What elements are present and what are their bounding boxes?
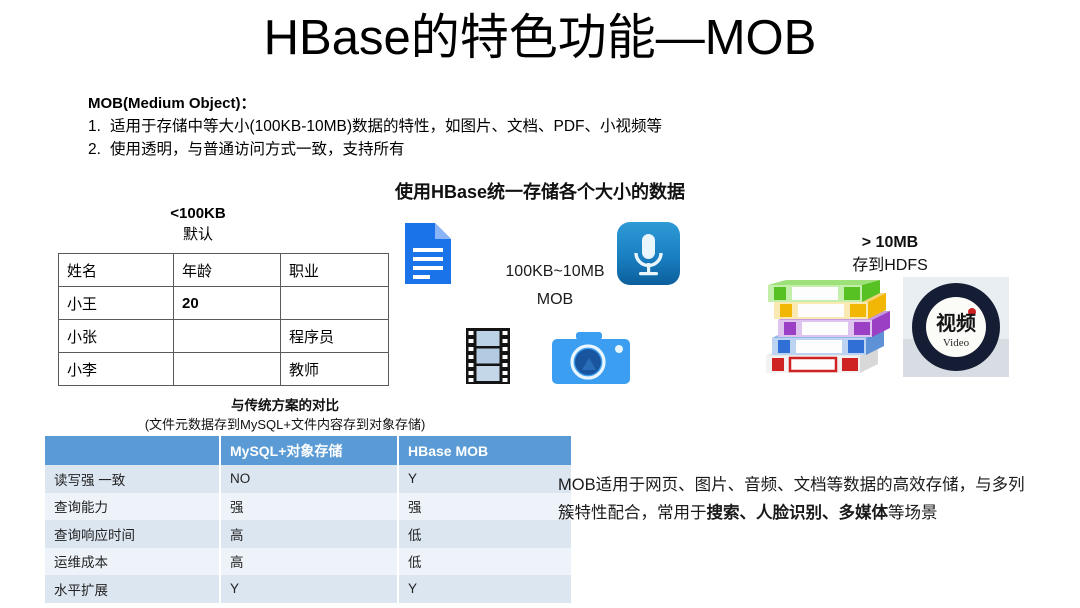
table-cell [174, 353, 281, 386]
table-header-cell [45, 436, 220, 465]
table-row: 小王 20 [59, 287, 389, 320]
comparison-caption: 与传统方案的对比 (文件元数据存到MySQL+文件内容存到对象存储) [45, 396, 525, 434]
table-cell: 运维成本 [45, 548, 220, 576]
table-cell: Y [398, 465, 571, 493]
large-data-size: > 10MB [862, 234, 918, 251]
table-cell: 强 [220, 493, 398, 521]
intro-heading: MOB(Medium Object)： [88, 93, 888, 115]
small-data-label: <100KB 默认 [58, 203, 338, 245]
medium-data-mode: MOB [480, 286, 630, 314]
table-header-row: MySQL+对象存储 HBase MOB [45, 436, 571, 465]
table-cell: Y [398, 575, 571, 603]
list-item-text: 适用于存储中等大小(100KB-10MB)数据的特性，如图片、文档、PDF、小视… [110, 115, 888, 138]
small-data-size: <100KB [170, 205, 225, 222]
table-cell: Y [220, 575, 398, 603]
table-header-cell: 职业 [281, 254, 389, 287]
table-cell: 查询能力 [45, 493, 220, 521]
list-item: 1. 适用于存储中等大小(100KB-10MB)数据的特性，如图片、文档、PDF… [88, 115, 888, 138]
page-title: HBase的特色功能—MOB [0, 8, 1080, 68]
video-logo-icon: 视频 Video [903, 277, 1009, 377]
table-row: 小张 程序员 [59, 320, 389, 353]
table-header-cell: MySQL+对象存储 [220, 436, 398, 465]
right-note-emphasis: 搜索、人脸识别、多媒体 [707, 504, 889, 522]
table-row: 小李 教师 [59, 353, 389, 386]
small-data-mode: 默认 [58, 224, 338, 245]
table-cell: 高 [220, 548, 398, 576]
table-row: 查询能力 强 强 [45, 493, 571, 521]
svg-text:Video: Video [943, 337, 970, 349]
comparison-caption-line2: (文件元数据存到MySQL+文件内容存到对象存储) [45, 415, 525, 434]
slide-root: HBase的特色功能—MOB MOB(Medium Object)： 1. 适用… [0, 0, 1080, 608]
list-item-number: 2. [88, 138, 110, 161]
table-cell [281, 287, 389, 320]
table-row: 读写强 一致 NO Y [45, 465, 571, 493]
medium-data-label: 100KB~10MB MOB [480, 258, 630, 314]
table-cell [174, 320, 281, 353]
table-cell: 强 [398, 493, 571, 521]
right-note-part2: 等场景 [888, 504, 938, 522]
table-header-cell: HBase MOB [398, 436, 571, 465]
table-cell: 程序员 [281, 320, 389, 353]
large-data-mode: 存到HDFS [790, 254, 990, 277]
table-cell: 教师 [281, 353, 389, 386]
table-cell: 高 [220, 520, 398, 548]
table-cell: 低 [398, 548, 571, 576]
table-row: 查询响应时间 高 低 [45, 520, 571, 548]
table-header-cell: 姓名 [59, 254, 174, 287]
table-cell: 小张 [59, 320, 174, 353]
persons-table: 姓名 年龄 职业 小王 20 小张 程序员 小李 教师 [58, 253, 389, 386]
svg-text:视频: 视频 [936, 311, 976, 335]
table-header-cell: 年龄 [174, 254, 281, 287]
intro-block: MOB(Medium Object)： 1. 适用于存储中等大小(100KB-1… [88, 93, 888, 161]
list-item: 2. 使用透明，与普通访问方式一致，支持所有 [88, 138, 888, 161]
table-cell: 小李 [59, 353, 174, 386]
section-subtitle: 使用HBase统一存储各个大小的数据 [0, 178, 1080, 204]
table-cell: 20 [174, 287, 281, 320]
large-data-label: > 10MB 存到HDFS [790, 231, 990, 277]
right-note: MOB适用于网页、图片、音频、文档等数据的高效存储，与多列簇特性配合，常用于搜索… [558, 471, 1026, 527]
film-strip-icon [466, 328, 510, 384]
table-row: 运维成本 高 低 [45, 548, 571, 576]
comparison-caption-line1: 与传统方案的对比 [45, 396, 525, 415]
table-row: 水平扩展 Y Y [45, 575, 571, 603]
list-item-text: 使用透明，与普通访问方式一致，支持所有 [110, 138, 888, 161]
table-row: 姓名 年龄 职业 [59, 254, 389, 287]
table-cell: NO [220, 465, 398, 493]
camera-icon [552, 332, 630, 384]
table-cell: 低 [398, 520, 571, 548]
binder-stack-icon [760, 280, 892, 384]
intro-list: 1. 适用于存储中等大小(100KB-10MB)数据的特性，如图片、文档、PDF… [88, 115, 888, 161]
list-item-number: 1. [88, 115, 110, 138]
medium-data-size: 100KB~10MB [505, 263, 604, 280]
comparison-table: MySQL+对象存储 HBase MOB 读写强 一致 NO Y 查询能力 强 … [45, 436, 571, 603]
table-cell: 小王 [59, 287, 174, 320]
table-cell: 水平扩展 [45, 575, 220, 603]
table-cell: 读写强 一致 [45, 465, 220, 493]
table-cell: 查询响应时间 [45, 520, 220, 548]
document-icon [403, 222, 453, 285]
